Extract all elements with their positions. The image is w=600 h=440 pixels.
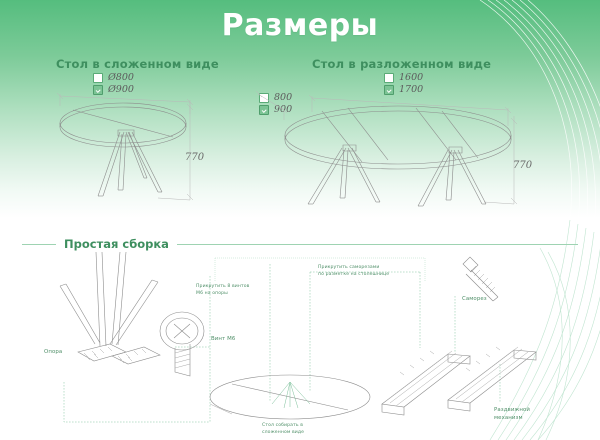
part-slide-mechanism xyxy=(382,347,536,415)
page-title: Размеры xyxy=(0,8,600,43)
callout-support-label: Опора xyxy=(44,348,62,356)
connector-lines xyxy=(64,264,500,422)
callout-note-folded: Стол собирать в сложенном виде xyxy=(262,423,304,437)
option-label-folded-800: Ø800 xyxy=(108,72,134,83)
poster-root: Размеры Стол в сложенном виде Ø800 Ø900 … xyxy=(0,0,600,440)
drawing-unfolded-table xyxy=(250,86,535,211)
assembly-heading-text: Простая сборка xyxy=(64,237,169,251)
callout-self-tapping-screw-label: Саморез xyxy=(462,295,487,303)
part-tabletop xyxy=(210,375,370,419)
section-heading-folded: Стол в сложенном виде xyxy=(56,57,219,71)
section-heading-unfolded: Стол в разложенном виде xyxy=(312,57,491,71)
part-support xyxy=(60,252,160,364)
part-screw-m6 xyxy=(160,312,204,376)
assembly-section-heading: Простая сборка xyxy=(0,236,600,252)
callout-note-screws: Прикрутить 8 винтов М6 на опоры xyxy=(196,284,249,298)
option-folded-800[interactable]: Ø800 xyxy=(93,72,134,83)
callout-slide-mechanism-label: Раздвижной механизм xyxy=(494,406,530,422)
callout-screw-m6-label: Винт М6 xyxy=(211,335,235,343)
checkbox-folded-800[interactable] xyxy=(93,73,103,83)
heading-rule-right xyxy=(177,244,578,245)
heading-rule-left xyxy=(22,244,56,245)
option-label-unfolded-1600: 1600 xyxy=(399,72,423,83)
option-unfolded-1600[interactable]: 1600 xyxy=(384,72,423,83)
callout-note-tabletop: Прикрутить саморезами по разметке на сто… xyxy=(318,265,389,279)
drawing-folded-table xyxy=(40,92,260,207)
checkbox-unfolded-1600[interactable] xyxy=(384,73,394,83)
